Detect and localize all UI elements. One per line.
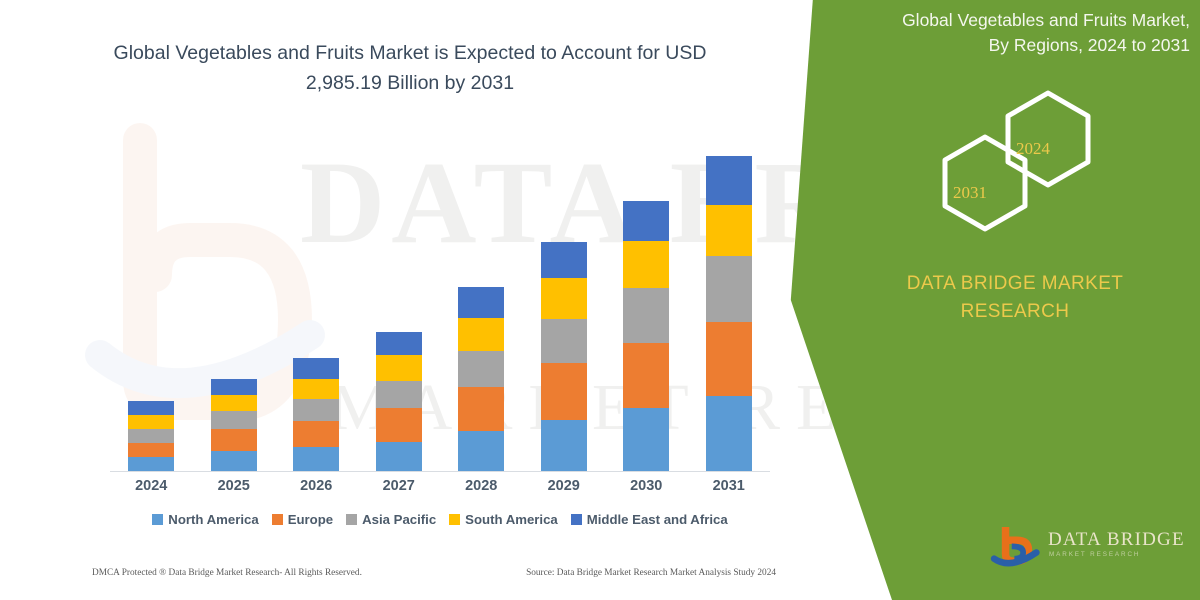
x-axis-label-2028: 2028: [446, 478, 516, 494]
logo-wordmark: DATA BRIDGE: [1048, 529, 1185, 551]
legend-label: South America: [465, 512, 558, 527]
bar-segment-south-america[interactable]: [128, 415, 174, 429]
company-logo: DATA BRIDGE MARKET RESEARCH: [990, 527, 1190, 575]
bar-segment-asia-pacific[interactable]: [128, 429, 174, 443]
bar-segment-middle-east-and-africa[interactable]: [376, 332, 422, 355]
brand-name-line1: DATA BRIDGE MARKET: [850, 270, 1180, 298]
bar-segment-north-america[interactable]: [128, 457, 174, 471]
legend-item-middle-east-and-africa[interactable]: Middle East and Africa: [571, 512, 728, 527]
bar-segment-europe[interactable]: [623, 343, 669, 408]
x-axis-label-2024: 2024: [116, 478, 186, 494]
logo-tagline: MARKET RESEARCH: [1049, 551, 1140, 558]
bar-segment-europe[interactable]: [458, 387, 504, 431]
bar-segment-asia-pacific[interactable]: [376, 381, 422, 408]
bar-segment-asia-pacific[interactable]: [293, 399, 339, 421]
bar-segment-europe[interactable]: [211, 429, 257, 451]
bar-segment-north-america[interactable]: [623, 408, 669, 471]
bar-2028[interactable]: [458, 287, 504, 471]
x-axis-label-2029: 2029: [529, 478, 599, 494]
footer-source: Source: Data Bridge Market Research Mark…: [526, 568, 776, 578]
bar-segment-europe[interactable]: [541, 363, 587, 420]
bar-segment-north-america[interactable]: [376, 442, 422, 471]
bar-chart-plot: [110, 120, 770, 472]
bar-segment-europe[interactable]: [376, 408, 422, 442]
legend-item-south-america[interactable]: South America: [449, 512, 558, 527]
brand-panel: Global Vegetables and Fruits Market, By …: [760, 0, 1200, 600]
legend-label: North America: [168, 512, 258, 527]
legend-label: Middle East and Africa: [587, 512, 728, 527]
data-bridge-logo-icon: [990, 527, 1044, 571]
x-axis-label-2027: 2027: [364, 478, 434, 494]
bar-segment-middle-east-and-africa[interactable]: [293, 358, 339, 379]
bar-2031[interactable]: [706, 156, 752, 471]
bar-2025[interactable]: [211, 379, 257, 471]
bar-segment-asia-pacific[interactable]: [211, 411, 257, 429]
brand-name-line2: RESEARCH: [850, 298, 1180, 326]
footer: DMCA Protected ® Data Bridge Market Rese…: [92, 568, 782, 578]
x-axis-labels: 20242025202620272028202920302031: [110, 478, 770, 500]
x-axis-label-2026: 2026: [281, 478, 351, 494]
x-axis-line: [110, 471, 770, 472]
legend-item-north-america[interactable]: North America: [152, 512, 258, 527]
legend-item-asia-pacific[interactable]: Asia Pacific: [346, 512, 436, 527]
panel-title-line1: Global Vegetables and Fruits Market,: [842, 8, 1190, 33]
bar-segment-north-america[interactable]: [541, 420, 587, 471]
bar-2024[interactable]: [128, 401, 174, 471]
legend-swatch-icon: [152, 514, 163, 525]
bar-segment-middle-east-and-africa[interactable]: [706, 156, 752, 205]
bar-2027[interactable]: [376, 332, 422, 471]
bar-segment-north-america[interactable]: [211, 451, 257, 471]
bar-segment-north-america[interactable]: [293, 447, 339, 471]
legend-swatch-icon: [346, 514, 357, 525]
bar-segment-europe[interactable]: [706, 322, 752, 396]
bar-segment-south-america[interactable]: [706, 205, 752, 256]
bar-segment-asia-pacific[interactable]: [458, 351, 504, 387]
panel-title-line2: By Regions, 2024 to 2031: [842, 33, 1190, 58]
x-axis-label-2030: 2030: [611, 478, 681, 494]
bar-2026[interactable]: [293, 358, 339, 471]
legend-label: Europe: [288, 512, 333, 527]
bar-segment-asia-pacific[interactable]: [541, 319, 587, 363]
page-title: Global Vegetables and Fruits Market is E…: [80, 38, 740, 98]
legend-swatch-icon: [571, 514, 582, 525]
bar-segment-south-america[interactable]: [541, 278, 587, 319]
bar-segment-south-america[interactable]: [211, 395, 257, 411]
bar-segment-south-america[interactable]: [623, 241, 669, 288]
bar-segment-south-america[interactable]: [376, 355, 422, 381]
legend-item-europe[interactable]: Europe: [272, 512, 333, 527]
chart-legend: North AmericaEuropeAsia PacificSouth Ame…: [110, 512, 770, 527]
x-axis-label-2031: 2031: [694, 478, 764, 494]
footer-copyright: DMCA Protected ® Data Bridge Market Rese…: [92, 568, 362, 578]
panel-title: Global Vegetables and Fruits Market, By …: [842, 8, 1190, 58]
bar-segment-north-america[interactable]: [706, 396, 752, 471]
bar-2029[interactable]: [541, 242, 587, 471]
bar-segment-middle-east-and-africa[interactable]: [458, 287, 504, 318]
bar-2030[interactable]: [623, 201, 669, 471]
bar-segment-south-america[interactable]: [458, 318, 504, 351]
brand-name: DATA BRIDGE MARKET RESEARCH: [850, 270, 1180, 326]
bar-segment-europe[interactable]: [128, 443, 174, 457]
bar-segment-middle-east-and-africa[interactable]: [541, 242, 587, 278]
legend-label: Asia Pacific: [362, 512, 436, 527]
infographic-canvas: DATA BRIDGE MARKET RESEARCH Global Veget…: [0, 0, 1200, 600]
bar-segment-middle-east-and-africa[interactable]: [211, 379, 257, 395]
bar-segment-middle-east-and-africa[interactable]: [623, 201, 669, 241]
legend-swatch-icon: [272, 514, 283, 525]
legend-swatch-icon: [449, 514, 460, 525]
x-axis-label-2025: 2025: [199, 478, 269, 494]
bar-segment-middle-east-and-africa[interactable]: [128, 401, 174, 415]
bar-segment-asia-pacific[interactable]: [706, 256, 752, 322]
bar-segment-europe[interactable]: [293, 421, 339, 447]
bar-segment-asia-pacific[interactable]: [623, 288, 669, 343]
bar-segment-south-america[interactable]: [293, 379, 339, 399]
bar-segment-north-america[interactable]: [458, 431, 504, 471]
